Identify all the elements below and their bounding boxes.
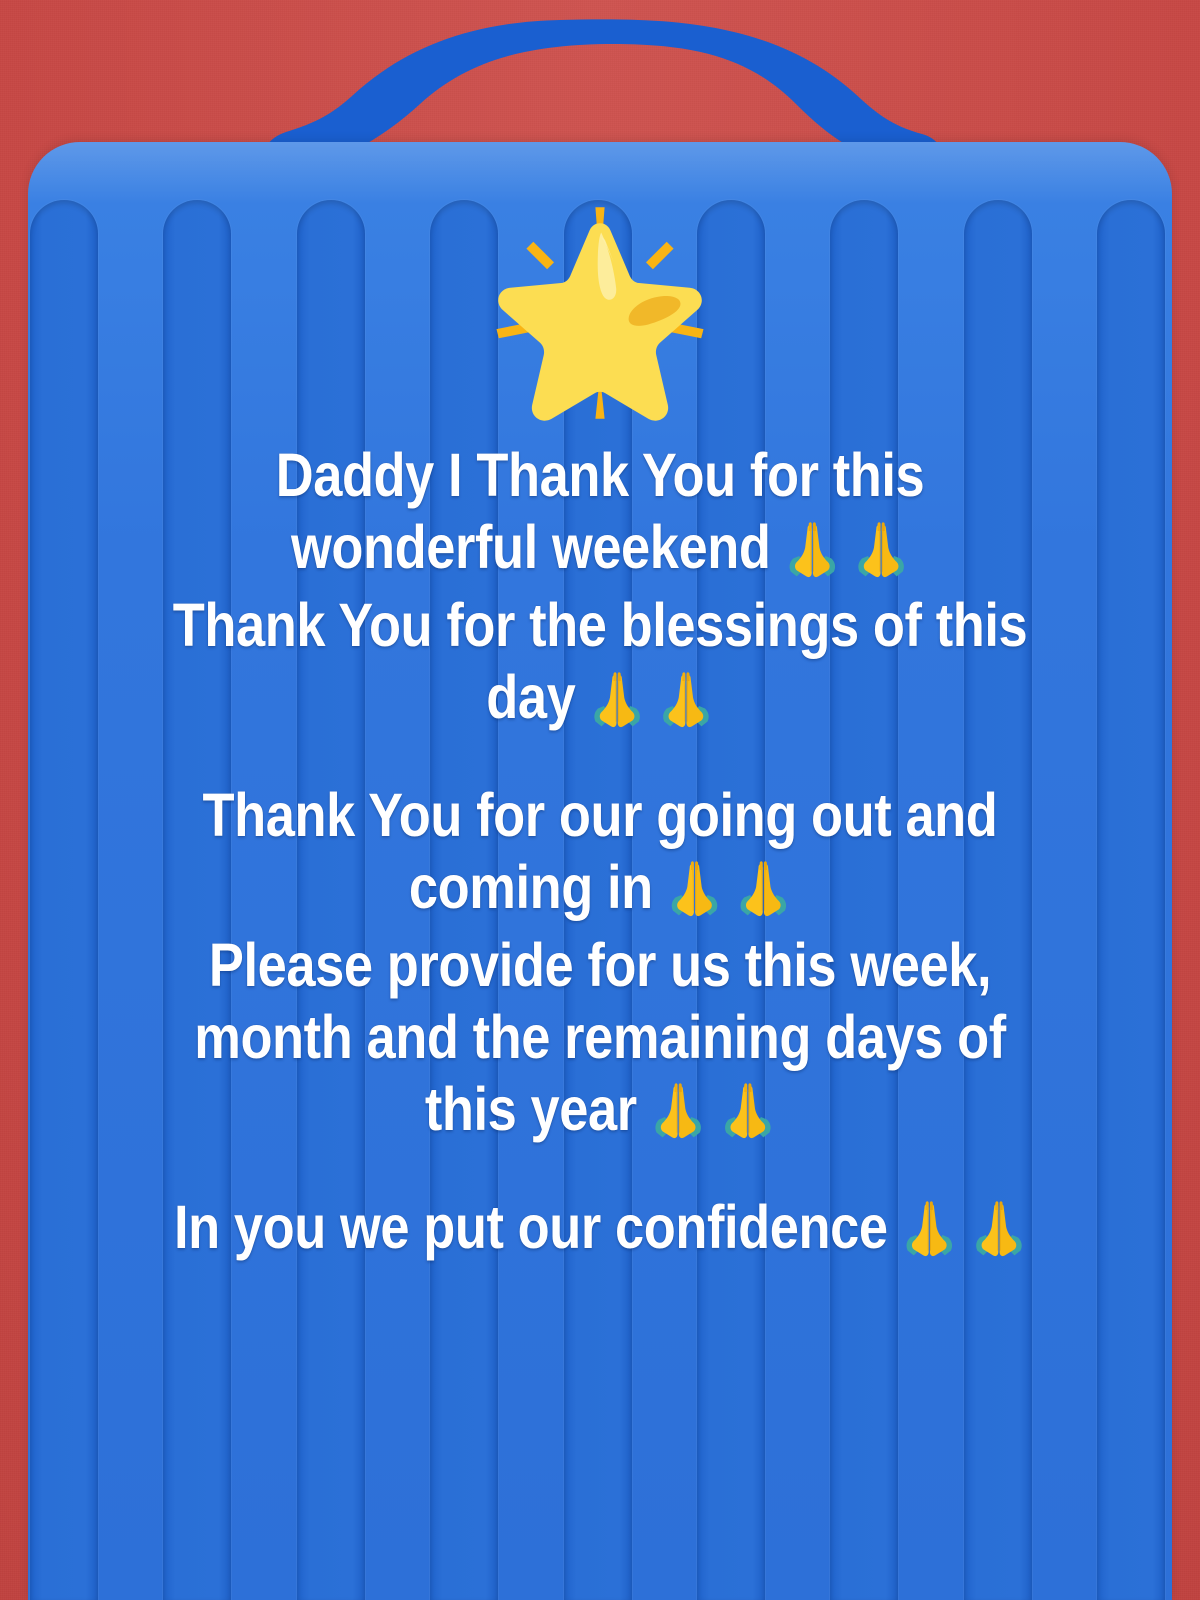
- verse-text: Thank You for our going out and coming i…: [203, 781, 998, 921]
- verse-line: Please provide for us this week, month a…: [142, 930, 1057, 1146]
- prayer-card-image: Daddy I Thank You for this wonderful wee…: [0, 0, 1200, 1600]
- folded-hands-icon: [718, 1080, 778, 1140]
- folded-hands-icon: [969, 1198, 1029, 1258]
- suitcase-body: Daddy I Thank You for this wonderful wee…: [28, 142, 1172, 1600]
- card-content: Daddy I Thank You for this wonderful wee…: [28, 142, 1172, 1600]
- folded-hands-icon: [852, 519, 912, 579]
- folded-hands-icon: [734, 858, 794, 918]
- verse-line: In you we put our confidence: [142, 1192, 1057, 1264]
- folded-hands-icon: [782, 519, 842, 579]
- verse-text: In you we put our confidence: [174, 1193, 888, 1261]
- verse-line: Thank You for our going out and coming i…: [142, 780, 1057, 924]
- folded-hands-icon: [899, 1198, 959, 1258]
- verse-line: Daddy I Thank You for this wonderful wee…: [142, 440, 1057, 584]
- verse-text: Please provide for us this week, month a…: [194, 931, 1006, 1143]
- verse-line: Thank You for the blessings of this day: [142, 590, 1057, 734]
- folded-hands-icon: [656, 669, 716, 729]
- folded-hands-icon: [665, 858, 725, 918]
- folded-hands-icon: [587, 669, 647, 729]
- verse-list: Daddy I Thank You for this wonderful wee…: [68, 440, 1132, 1264]
- folded-hands-icon: [649, 1080, 709, 1140]
- glowing-star-icon: [485, 198, 715, 428]
